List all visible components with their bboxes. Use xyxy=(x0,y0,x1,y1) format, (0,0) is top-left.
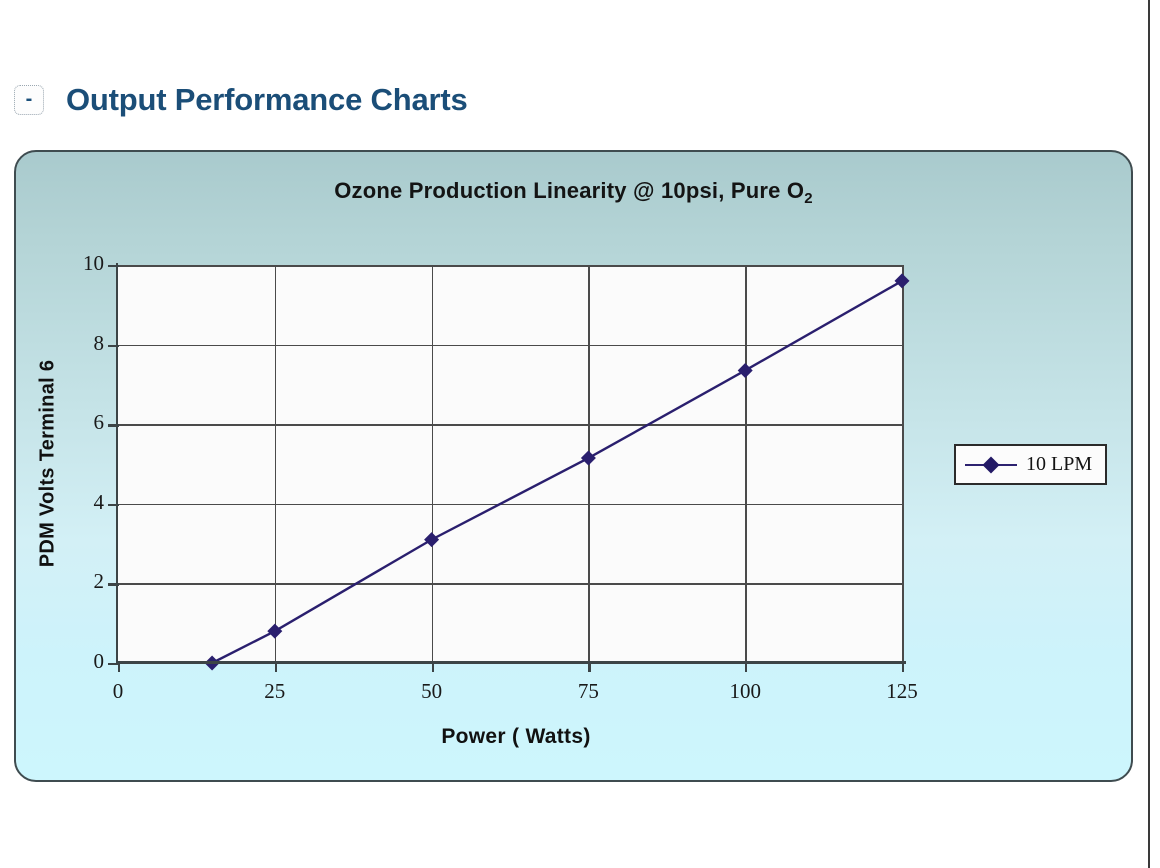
y-tick-label: 8 xyxy=(64,331,104,356)
y-axis-tick xyxy=(108,583,119,585)
legend-label: 10 LPM xyxy=(1026,453,1092,476)
legend: 10 LPM xyxy=(954,444,1107,485)
x-tick-label: 0 xyxy=(83,679,153,704)
page-divider xyxy=(1148,0,1150,868)
x-axis-title: Power ( Watts) xyxy=(16,725,1016,749)
x-tick-label: 100 xyxy=(710,679,780,704)
series-line-10-lpm xyxy=(118,265,902,663)
y-tick-label: 2 xyxy=(64,569,104,594)
data-point-marker xyxy=(424,532,439,547)
y-axis-line xyxy=(116,263,118,665)
plot-area xyxy=(118,265,902,663)
x-tick-label: 75 xyxy=(553,679,623,704)
y-tick-label: 6 xyxy=(64,410,104,435)
section-header: - Output Performance Charts xyxy=(14,82,468,118)
collapse-toggle-button[interactable]: - xyxy=(14,85,44,115)
x-tick-label: 25 xyxy=(240,679,310,704)
y-tick-label: 0 xyxy=(64,649,104,674)
x-tick-label: 50 xyxy=(397,679,467,704)
x-axis-tick xyxy=(432,661,434,672)
y-axis-tick xyxy=(108,265,119,267)
y-axis-tick xyxy=(108,424,119,426)
chart-title-subscript: 2 xyxy=(804,190,813,207)
x-tick-label: 125 xyxy=(867,679,937,704)
y-tick-label: 4 xyxy=(64,490,104,515)
x-axis-tick xyxy=(275,661,277,672)
data-point-marker xyxy=(895,273,910,288)
y-tick-label: 10 xyxy=(64,251,104,276)
x-axis-tick xyxy=(118,661,120,672)
chart-title-text: Ozone Production Linearity @ 10psi, Pure… xyxy=(334,178,804,203)
chart-title: Ozone Production Linearity @ 10psi, Pure… xyxy=(16,178,1131,204)
x-axis-line xyxy=(116,661,906,664)
y-axis-tick xyxy=(108,345,119,347)
data-point-marker xyxy=(581,451,596,466)
x-axis-tick xyxy=(745,661,747,672)
data-point-marker xyxy=(738,363,753,378)
gridline-vertical xyxy=(902,265,904,663)
y-axis-tick xyxy=(108,504,119,506)
chart-panel: Ozone Production Linearity @ 10psi, Pure… xyxy=(14,150,1133,782)
legend-marker-icon xyxy=(965,458,1017,472)
data-point-marker xyxy=(267,624,282,639)
x-axis-tick xyxy=(588,661,590,672)
page-title: Output Performance Charts xyxy=(66,82,468,118)
x-axis-tick xyxy=(902,661,904,672)
